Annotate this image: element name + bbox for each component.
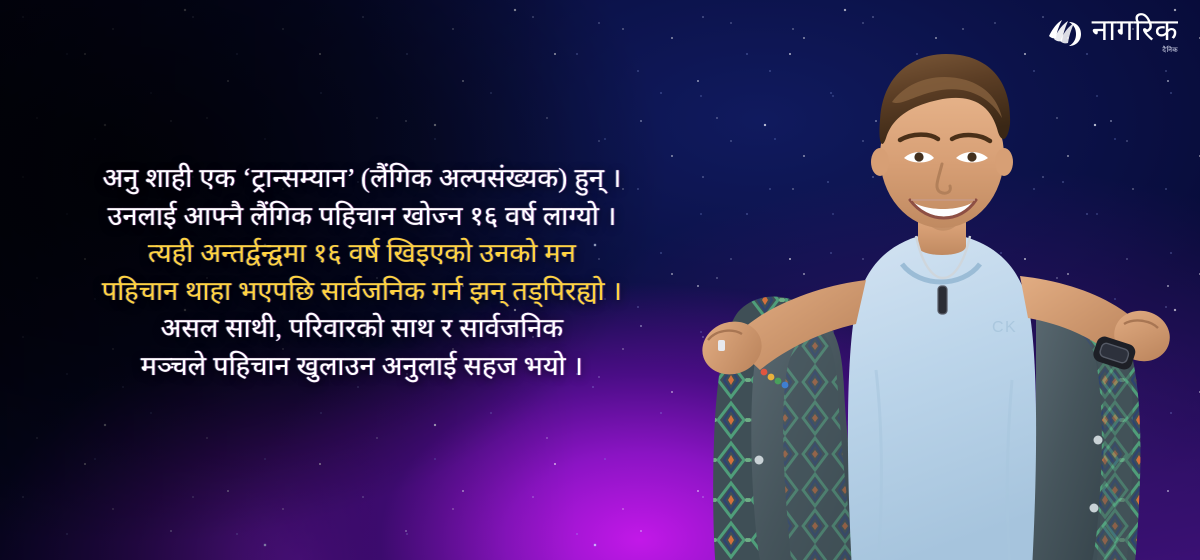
- necklace-pendant: [938, 286, 947, 314]
- quote-line-1: अनु शाही एक ‘ट्रान्सम्यान’ (लैंगिक अल्पस…: [16, 160, 708, 198]
- jacket-button-left-2: [755, 456, 764, 465]
- quote-line-3: त्यही अन्तर्द्वन्द्वमा १६ वर्ष खिइएको उन…: [16, 235, 708, 273]
- quote-line-5: असल साथी, परिवारको साथ र सार्वजनिक: [16, 310, 708, 348]
- quote-line-4: पहिचान थाहा भएपछि सार्वजनिक गर्न झन् तड्…: [16, 273, 708, 311]
- jacket-button-right-3: [1090, 504, 1099, 513]
- brand-subtitle: दैनिक: [1162, 46, 1178, 55]
- brand-name: नागरिक: [1092, 16, 1178, 46]
- jacket-button-right-2: [1094, 436, 1103, 445]
- quote-line-2: उनलाई आफ्नै लैंगिक पहिचान खोज्न १६ वर्ष …: [16, 198, 708, 236]
- nagarik-swirl-logo-icon: [1047, 14, 1083, 48]
- quote-text-block: अनु शाही एक ‘ट्रान्सम्यान’ (लैंगिक अल्पस…: [0, 160, 724, 385]
- ear-right: [995, 148, 1013, 176]
- jacket-right-lining: [1028, 310, 1102, 560]
- nagarik-logo[interactable]: नागरिक दैनिक: [1047, 14, 1178, 48]
- news-quote-banner: CK: [0, 0, 1200, 560]
- nagarik-wordmark: नागरिक दैनिक: [1092, 16, 1178, 46]
- tshirt-brand-logo: CK: [992, 319, 1017, 336]
- subject-photo: CK: [680, 40, 1200, 560]
- ear-left: [871, 148, 889, 176]
- quote-line-6: मञ्चले पहिचान खुलाउन अनुलाई सहज भयो ।: [16, 348, 708, 386]
